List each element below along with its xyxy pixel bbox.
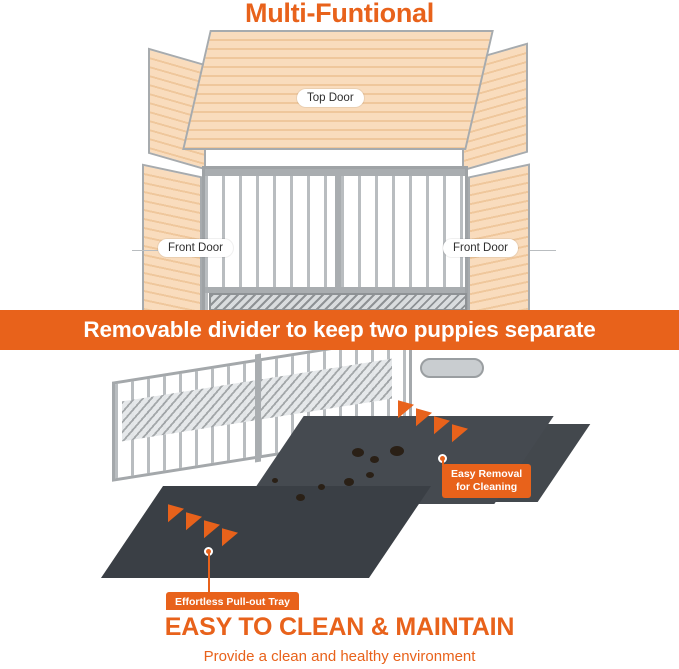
label-front-door-left: Front Door bbox=[158, 239, 233, 257]
cage-floor-grate bbox=[209, 293, 467, 311]
label-easy-removal-line1: Easy Removal bbox=[451, 468, 522, 480]
label-easy-removal-line2: for Cleaning bbox=[456, 481, 517, 493]
bottom-subtitle: Provide a clean and healthy environment bbox=[0, 648, 679, 665]
divider-banner: Removable divider to keep two puppies se… bbox=[0, 310, 679, 350]
leader-line-right bbox=[530, 250, 556, 251]
debris-speck bbox=[366, 472, 374, 478]
debris-speck bbox=[390, 446, 404, 456]
label-pull-out-tray: Effortless Pull-out Tray bbox=[166, 592, 299, 610]
debris-speck bbox=[318, 484, 325, 490]
label-front-door-right: Front Door bbox=[443, 239, 518, 257]
tray-handle-knob bbox=[420, 358, 484, 378]
leader-line-left bbox=[132, 250, 158, 251]
top-title: Multi-Funtional bbox=[0, 0, 679, 29]
bottom-title: EASY TO CLEAN & MAINTAIN bbox=[0, 613, 679, 642]
debris-speck bbox=[370, 456, 379, 463]
pull-out-tray-front bbox=[101, 486, 431, 578]
bottom-product-illustration: Easy Removal for Cleaning Effortless Pul… bbox=[0, 350, 679, 610]
top-product-illustration: Top Door Front Door Front Door bbox=[0, 26, 679, 308]
debris-speck bbox=[272, 478, 278, 483]
debris-speck bbox=[296, 494, 305, 501]
callout-line-pull-out-tray bbox=[208, 551, 210, 593]
banner-text: Removable divider to keep two puppies se… bbox=[83, 317, 595, 343]
cage-body bbox=[202, 166, 468, 314]
label-top-door: Top Door bbox=[297, 89, 364, 107]
debris-speck bbox=[352, 448, 364, 457]
bottom-cage-divider bbox=[255, 354, 261, 463]
promo-graphic: Multi-Funtional Top Door Front Door Fron… bbox=[0, 0, 679, 669]
debris-speck bbox=[344, 478, 354, 486]
label-easy-removal: Easy Removal for Cleaning bbox=[442, 464, 531, 498]
